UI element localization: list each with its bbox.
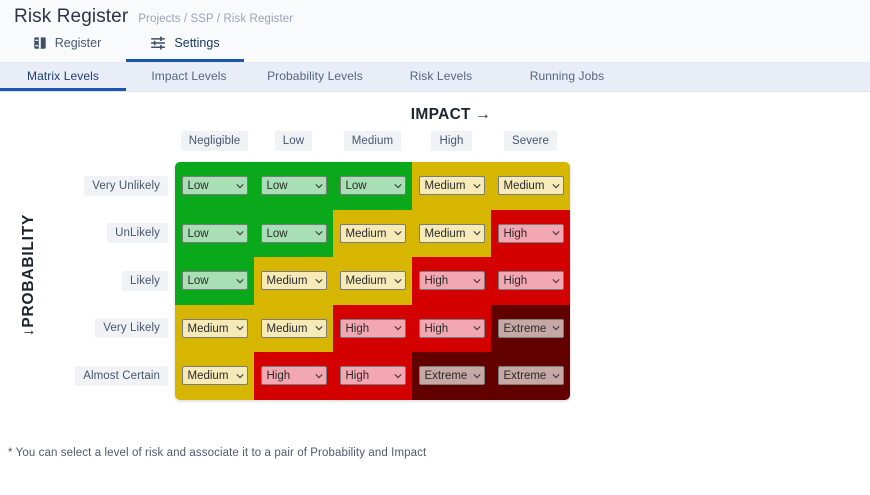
risk-level-select-r4-c2[interactable]: LowMediumHighExtreme (261, 319, 327, 338)
risk-level-select-r1-c2[interactable]: LowMediumHighExtreme (261, 176, 327, 195)
risk-level-select-wrapper: LowMediumHighExtreme (419, 224, 485, 243)
matrix-cell: LowMediumHighExtreme (491, 162, 570, 210)
matrix-body: ↓PROBABILITY Very Unlikely UnLikely Like… (0, 162, 870, 400)
app-header: Risk Register Projects / SSP / Risk Regi… (0, 0, 870, 63)
subtab-probability-levels-label: Probability Levels (267, 69, 363, 83)
risk-level-select-wrapper: LowMediumHighExtreme (340, 366, 406, 385)
risk-level-select-r2-c1[interactable]: LowMediumHighExtreme (182, 224, 248, 243)
matrix-cell: LowMediumHighExtreme (412, 162, 491, 210)
subtab-risk-levels-label: Risk Levels (410, 69, 472, 83)
impact-header-cell: High (412, 131, 491, 151)
risk-level-select-r2-c5[interactable]: LowMediumHighExtreme (498, 224, 564, 243)
risk-matrix-grid: LowMediumHighExtremeLowMediumHighExtreme… (175, 162, 570, 400)
matrix-row: LowMediumHighExtremeLowMediumHighExtreme… (175, 257, 570, 305)
probability-header-cell: UnLikely (44, 210, 175, 258)
impact-level-severe: Severe (504, 131, 557, 151)
impact-level-medium: Medium (344, 131, 402, 151)
subtab-risk-levels[interactable]: Risk Levels (378, 63, 504, 91)
tab-register[interactable]: Register (8, 30, 126, 62)
probability-level-likely: Likely (122, 271, 168, 291)
impact-header-cell: Negligible (175, 131, 254, 151)
risk-level-select-r4-c1[interactable]: LowMediumHighExtreme (182, 319, 248, 338)
matrix-grid-area: Negligible Low Medium High Severe ↓PROBA… (0, 128, 870, 400)
risk-level-select-wrapper: LowMediumHighExtreme (182, 271, 248, 290)
impact-header-cell: Medium (333, 131, 412, 151)
matrix-cell: LowMediumHighExtreme (254, 352, 333, 400)
risk-level-select-r4-c4[interactable]: LowMediumHighExtreme (419, 319, 485, 338)
subtab-matrix-levels[interactable]: Matrix Levels (0, 63, 126, 91)
matrix-cell: LowMediumHighExtreme (333, 352, 412, 400)
matrix-cell: LowMediumHighExtreme (254, 305, 333, 353)
tab-settings[interactable]: Settings (126, 30, 244, 62)
impact-level-low: Low (275, 131, 312, 151)
risk-level-select-r5-c4[interactable]: LowMediumHighExtreme (419, 366, 485, 385)
risk-level-select-wrapper: LowMediumHighExtreme (498, 176, 564, 195)
risk-level-select-wrapper: LowMediumHighExtreme (498, 319, 564, 338)
subtab-running-jobs-label: Running Jobs (530, 69, 605, 83)
risk-level-select-wrapper: LowMediumHighExtreme (419, 271, 485, 290)
matrix-cell: LowMediumHighExtreme (254, 162, 333, 210)
risk-level-select-wrapper: LowMediumHighExtreme (498, 271, 564, 290)
risk-level-select-r1-c5[interactable]: LowMediumHighExtreme (498, 176, 564, 195)
risk-level-select-wrapper: LowMediumHighExtreme (340, 224, 406, 243)
matrix-cell: LowMediumHighExtreme (175, 257, 254, 305)
sliders-icon (150, 36, 166, 50)
risk-level-select-r3-c4[interactable]: LowMediumHighExtreme (419, 271, 485, 290)
matrix-cell: LowMediumHighExtreme (412, 305, 491, 353)
risk-level-select-r5-c3[interactable]: LowMediumHighExtreme (340, 366, 406, 385)
impact-header-cell: Severe (491, 131, 570, 151)
risk-level-select-r1-c4[interactable]: LowMediumHighExtreme (419, 176, 485, 195)
matrix-cell: LowMediumHighExtreme (333, 305, 412, 353)
risk-level-select-r3-c3[interactable]: LowMediumHighExtreme (340, 271, 406, 290)
risk-level-select-wrapper: LowMediumHighExtreme (182, 366, 248, 385)
probability-level-very-unlikely: Very Unlikely (84, 176, 168, 196)
matrix-row: LowMediumHighExtremeLowMediumHighExtreme… (175, 162, 570, 210)
tab-register-label: Register (55, 36, 102, 50)
risk-level-select-wrapper: LowMediumHighExtreme (261, 176, 327, 195)
probability-axis: ↓PROBABILITY (0, 162, 44, 400)
subtab-impact-levels[interactable]: Impact Levels (126, 63, 252, 91)
risk-level-select-r4-c5[interactable]: LowMediumHighExtreme (498, 319, 564, 338)
matrix-cell: LowMediumHighExtreme (412, 352, 491, 400)
matrix-cell: LowMediumHighExtreme (175, 210, 254, 258)
risk-level-select-wrapper: LowMediumHighExtreme (261, 366, 327, 385)
probability-header-cell: Almost Certain (44, 352, 175, 400)
matrix-cell: LowMediumHighExtreme (491, 352, 570, 400)
matrix-cell: LowMediumHighExtreme (491, 257, 570, 305)
matrix-cell: LowMediumHighExtreme (254, 257, 333, 305)
risk-level-select-wrapper: LowMediumHighExtreme (340, 271, 406, 290)
risk-level-select-wrapper: LowMediumHighExtreme (261, 224, 327, 243)
matrix-cell: LowMediumHighExtreme (333, 210, 412, 258)
matrix-cell: LowMediumHighExtreme (333, 162, 412, 210)
impact-axis-title: IMPACT → (32, 92, 870, 124)
matrix-row: LowMediumHighExtremeLowMediumHighExtreme… (175, 305, 570, 353)
page-title: Risk Register (14, 6, 128, 28)
risk-level-select-wrapper: LowMediumHighExtreme (419, 319, 485, 338)
matrix-cell: LowMediumHighExtreme (412, 257, 491, 305)
probability-axis-arrow: ↓ (20, 328, 37, 337)
probability-header-cell: Very Likely (44, 305, 175, 353)
risk-level-select-r1-c3[interactable]: LowMediumHighExtreme (340, 176, 406, 195)
footnote: * You can select a level of risk and ass… (8, 447, 426, 459)
probability-level-unlikely: UnLikely (107, 223, 168, 243)
probability-header-cell: Likely (44, 257, 175, 305)
matrix-cell: LowMediumHighExtreme (491, 210, 570, 258)
risk-level-select-r2-c2[interactable]: LowMediumHighExtreme (261, 224, 327, 243)
risk-level-select-r5-c5[interactable]: LowMediumHighExtreme (498, 366, 564, 385)
matrix-row: LowMediumHighExtremeLowMediumHighExtreme… (175, 210, 570, 258)
subtab-impact-levels-label: Impact Levels (151, 69, 226, 83)
impact-level-negligible: Negligible (181, 131, 249, 151)
risk-level-select-r3-c5[interactable]: LowMediumHighExtreme (498, 271, 564, 290)
probability-level-very-likely: Very Likely (95, 318, 168, 338)
probability-level-almost-certain: Almost Certain (75, 366, 168, 386)
probability-axis-text: PROBABILITY (20, 214, 37, 328)
probability-axis-title: ↓PROBABILITY (20, 200, 38, 350)
risk-level-select-wrapper: LowMediumHighExtreme (419, 366, 485, 385)
matrix-cell: LowMediumHighExtreme (175, 305, 254, 353)
matrix-cell: LowMediumHighExtreme (412, 210, 491, 258)
matrix-cell: LowMediumHighExtreme (333, 257, 412, 305)
risk-level-select-r5-c2[interactable]: LowMediumHighExtreme (261, 366, 327, 385)
matrix-cell: LowMediumHighExtreme (254, 210, 333, 258)
matrix-cell: LowMediumHighExtreme (491, 305, 570, 353)
tab-settings-label: Settings (174, 36, 219, 50)
subtab-probability-levels[interactable]: Probability Levels (252, 63, 378, 91)
risk-level-select-r4-c3[interactable]: LowMediumHighExtreme (340, 319, 406, 338)
matrix-cell: LowMediumHighExtreme (175, 352, 254, 400)
risk-matrix-panel: IMPACT → Negligible Low Medium High Seve… (0, 92, 870, 494)
risk-level-select-wrapper: LowMediumHighExtreme (261, 271, 327, 290)
subtab-running-jobs[interactable]: Running Jobs (504, 63, 630, 91)
matrix-row: LowMediumHighExtremeLowMediumHighExtreme… (175, 352, 570, 400)
risk-level-select-r5-c1[interactable]: LowMediumHighExtreme (182, 366, 248, 385)
risk-level-select-r3-c1[interactable]: LowMediumHighExtreme (182, 271, 248, 290)
risk-level-select-wrapper: LowMediumHighExtreme (182, 319, 248, 338)
risk-level-select-wrapper: LowMediumHighExtreme (419, 176, 485, 195)
book-icon (33, 36, 47, 50)
impact-level-high: High (431, 131, 471, 151)
risk-level-select-r2-c4[interactable]: LowMediumHighExtreme (419, 224, 485, 243)
risk-level-select-r2-c3[interactable]: LowMediumHighExtreme (340, 224, 406, 243)
risk-level-select-r3-c2[interactable]: LowMediumHighExtreme (261, 271, 327, 290)
risk-level-select-wrapper: LowMediumHighExtreme (498, 224, 564, 243)
sub-tabs: Matrix Levels Impact Levels Probability … (0, 63, 870, 92)
risk-level-select-wrapper: LowMediumHighExtreme (498, 366, 564, 385)
risk-level-select-wrapper: LowMediumHighExtreme (261, 319, 327, 338)
impact-column-headers: Negligible Low Medium High Severe (175, 128, 870, 154)
subtab-matrix-levels-label: Matrix Levels (27, 69, 99, 83)
primary-nav-tabs: Register Settings (0, 30, 870, 62)
probability-row-headers: Very Unlikely UnLikely Likely Very Likel… (44, 162, 175, 400)
risk-level-select-wrapper: LowMediumHighExtreme (340, 319, 406, 338)
matrix-cell: LowMediumHighExtreme (175, 162, 254, 210)
probability-header-cell: Very Unlikely (44, 162, 175, 210)
title-row: Risk Register Projects / SSP / Risk Regi… (0, 0, 870, 28)
risk-level-select-wrapper: LowMediumHighExtreme (182, 224, 248, 243)
risk-level-select-wrapper: LowMediumHighExtreme (182, 176, 248, 195)
breadcrumb: Projects / SSP / Risk Register (138, 13, 293, 25)
risk-level-select-wrapper: LowMediumHighExtreme (340, 176, 406, 195)
impact-header-cell: Low (254, 131, 333, 151)
risk-level-select-r1-c1[interactable]: LowMediumHighExtreme (182, 176, 248, 195)
